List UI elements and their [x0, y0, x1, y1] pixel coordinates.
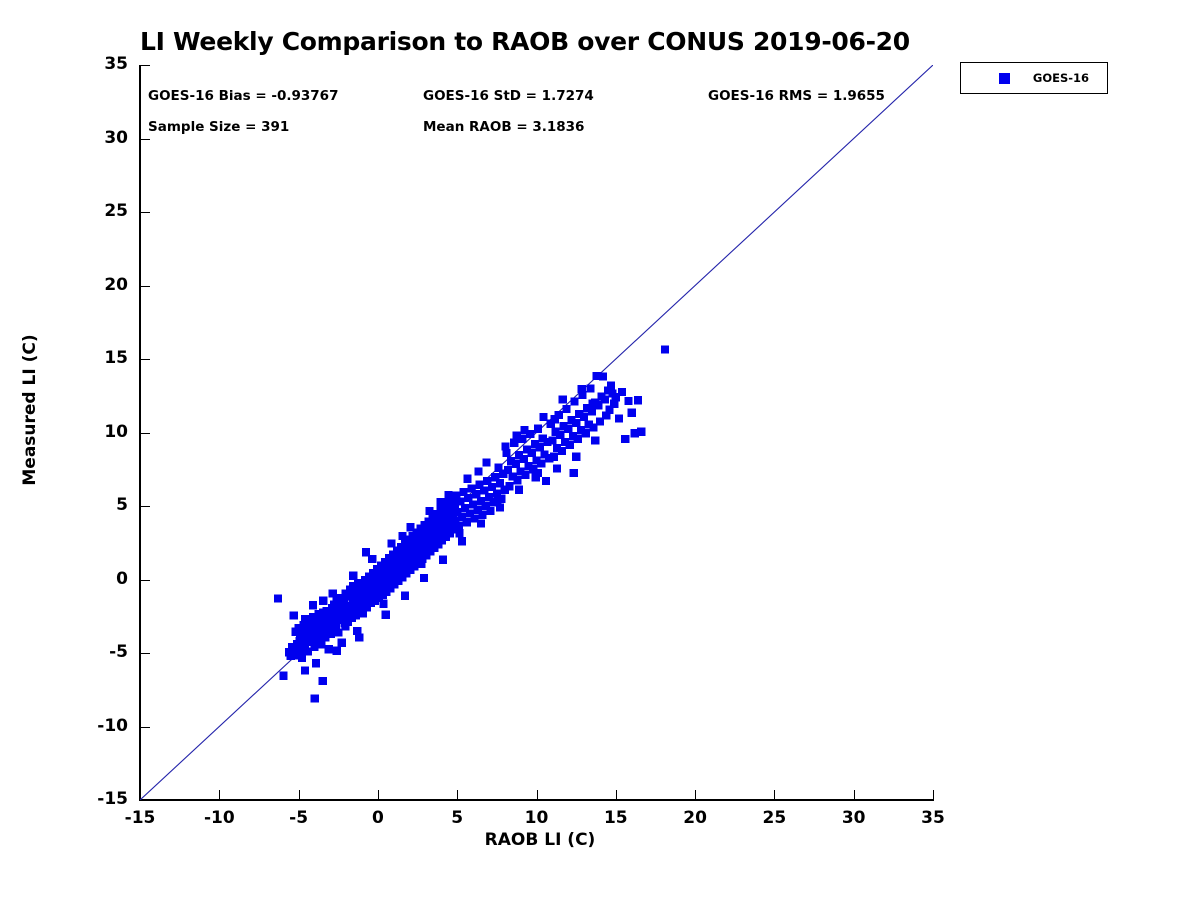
data-point: [311, 694, 319, 702]
data-point: [341, 622, 349, 630]
data-point: [482, 459, 490, 467]
x-tick-label: -5: [264, 808, 334, 828]
y-tick-label: 10: [68, 422, 128, 442]
data-point: [510, 439, 518, 447]
data-point: [329, 589, 337, 597]
data-point: [589, 400, 597, 408]
data-point: [333, 647, 341, 655]
data-point: [496, 503, 504, 511]
data-point: [586, 384, 594, 392]
data-point: [436, 498, 444, 506]
data-point: [382, 611, 390, 619]
legend-label: GOES-16: [1021, 71, 1101, 85]
data-point: [387, 539, 395, 547]
data-point: [420, 574, 428, 582]
y-tick-label: -5: [68, 642, 128, 662]
data-point: [310, 643, 318, 651]
data-point: [312, 659, 320, 667]
data-point: [325, 645, 333, 653]
data-point: [556, 431, 564, 439]
data-point: [458, 537, 466, 545]
data-point: [601, 395, 609, 403]
data-point: [521, 471, 529, 479]
data-point: [624, 397, 632, 405]
page-title: LI Weekly Comparison to RAOB over CONUS …: [140, 27, 940, 56]
data-point: [591, 436, 599, 444]
data-point: [540, 413, 548, 421]
x-tick-label: 20: [660, 808, 730, 828]
data-point: [362, 548, 370, 556]
data-point: [417, 560, 425, 568]
data-point: [578, 385, 586, 393]
data-point: [401, 592, 409, 600]
x-tick-label: 10: [502, 808, 572, 828]
data-point: [534, 425, 542, 433]
y-axis-label: Measured LI (C): [20, 250, 40, 570]
y-tick-label: 0: [68, 569, 128, 589]
data-point: [515, 486, 523, 494]
data-point: [439, 556, 447, 564]
y-tick-label: -10: [68, 716, 128, 736]
data-point: [574, 435, 582, 443]
y-tick: [141, 800, 150, 801]
data-point: [615, 414, 623, 422]
data-point: [463, 518, 471, 526]
data-point: [379, 600, 387, 608]
y-tick-label: 5: [68, 495, 128, 515]
x-tick: [933, 790, 934, 799]
data-point: [528, 449, 536, 457]
data-point: [628, 409, 636, 417]
x-tick-label: 30: [819, 808, 889, 828]
data-point: [618, 388, 626, 396]
data-point: [566, 441, 574, 449]
data-point: [637, 428, 645, 436]
data-point: [559, 395, 567, 403]
data-point: [548, 436, 556, 444]
data-point: [338, 639, 346, 647]
data-point: [425, 507, 433, 515]
data-point: [621, 435, 629, 443]
data-point: [301, 667, 309, 675]
data-point: [478, 511, 486, 519]
data-point: [290, 611, 298, 619]
plot-area: [140, 65, 933, 800]
data-point: [444, 491, 452, 499]
data-point: [563, 405, 571, 413]
data-point: [550, 453, 558, 461]
blue-square-marker-icon: [999, 73, 1010, 84]
data-point: [513, 431, 521, 439]
data-point: [398, 532, 406, 540]
data-point: [582, 429, 590, 437]
x-tick-label: 5: [422, 808, 492, 828]
data-point: [634, 396, 642, 404]
data-point: [553, 464, 561, 472]
x-tick-label: 15: [581, 808, 651, 828]
data-point: [309, 601, 317, 609]
scatter-plot-figure: LI Weekly Comparison to RAOB over CONUS …: [0, 0, 1200, 900]
data-point: [599, 373, 607, 381]
data-point: [406, 523, 414, 531]
y-tick-label: 25: [68, 201, 128, 221]
data-point: [570, 398, 578, 406]
data-point: [501, 442, 509, 450]
data-point: [319, 677, 327, 685]
y-tick-label: 30: [68, 128, 128, 148]
data-point: [463, 475, 471, 483]
x-tick-label: 25: [739, 808, 809, 828]
x-tick-label: -10: [184, 808, 254, 828]
data-point: [455, 522, 463, 530]
data-point: [536, 443, 544, 451]
data-point: [455, 529, 463, 537]
x-tick-label: 35: [898, 808, 968, 828]
data-point: [520, 455, 528, 463]
data-point: [542, 477, 550, 485]
data-point: [353, 627, 361, 635]
data-point: [494, 495, 502, 503]
data-point: [607, 381, 615, 389]
data-point: [486, 507, 494, 515]
data-point: [274, 595, 282, 603]
data-point: [532, 473, 540, 481]
data-point: [477, 520, 485, 528]
data-point: [537, 459, 545, 467]
data-point: [512, 460, 520, 468]
data-point: [572, 419, 580, 427]
y-tick-label: -15: [68, 789, 128, 809]
data-point: [279, 672, 287, 680]
data-point: [505, 482, 513, 490]
data-point: [570, 469, 578, 477]
x-tick-label: 0: [343, 808, 413, 828]
data-point: [551, 415, 559, 423]
data-point: [564, 425, 572, 433]
data-point: [296, 633, 304, 641]
data-point: [572, 453, 580, 461]
y-tick-label: 15: [68, 348, 128, 368]
data-point: [334, 628, 342, 636]
x-axis-label: RAOB LI (C): [0, 830, 1080, 850]
data-canvas: [140, 65, 933, 800]
data-point: [558, 447, 566, 455]
data-point: [475, 467, 483, 475]
data-point: [661, 345, 669, 353]
data-point: [513, 476, 521, 484]
x-tick-label: -15: [105, 808, 175, 828]
data-point: [580, 413, 588, 421]
data-point: [349, 572, 357, 580]
y-tick-label: 20: [68, 275, 128, 295]
data-point: [521, 426, 529, 434]
data-point: [319, 597, 327, 605]
y-tick-label: 35: [68, 54, 128, 74]
legend: GOES-16: [960, 62, 1108, 94]
